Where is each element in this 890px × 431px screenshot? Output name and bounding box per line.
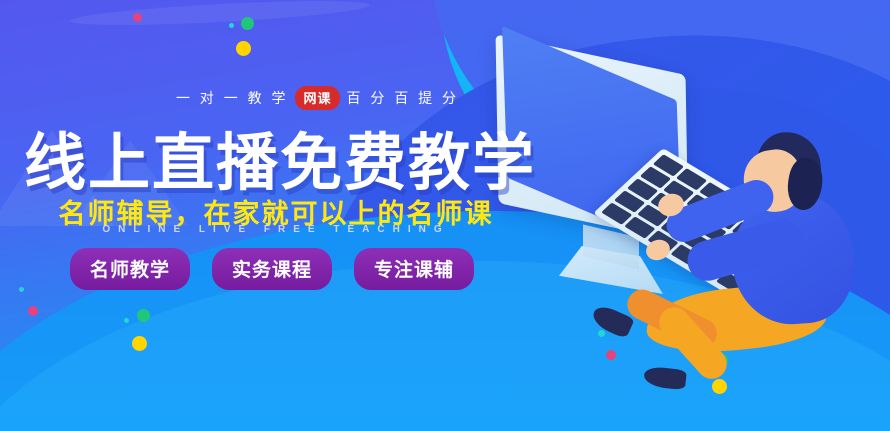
dot-yellow-bottom — [712, 379, 727, 394]
banner-text-block: 一 对 一 教 学 网课 百 分 百 提 分 线上直播免费教学 名师辅导，在家就… — [0, 0, 520, 431]
tagline-before: 一 对 一 教 学 — [176, 88, 289, 108]
tagline-badge: 网课 — [295, 86, 339, 110]
english-subtitle: ONLINE LIVE FREE TEACHING — [0, 224, 520, 235]
dot-pink-bottom — [606, 350, 616, 360]
tagline: 一 对 一 教 学 网课 百 分 百 提 分 — [0, 86, 520, 110]
feature-pill-2[interactable]: 实务课程 — [212, 248, 332, 290]
person-shoe-back — [643, 366, 687, 390]
feature-pill-3[interactable]: 专注课辅 — [354, 248, 474, 290]
feature-pill-row: 名师教学实务课程专注课辅 — [70, 248, 474, 290]
person-illustration — [690, 132, 880, 372]
tagline-after: 百 分 百 提 分 — [347, 88, 460, 108]
feature-pill-1[interactable]: 名师教学 — [70, 248, 190, 290]
dot-cyan-bottom-2 — [598, 330, 605, 337]
promo-banner: 一 对 一 教 学 网课 百 分 百 提 分 线上直播免费教学 名师辅导，在家就… — [0, 0, 890, 431]
headline: 线上直播免费教学 — [24, 112, 536, 202]
